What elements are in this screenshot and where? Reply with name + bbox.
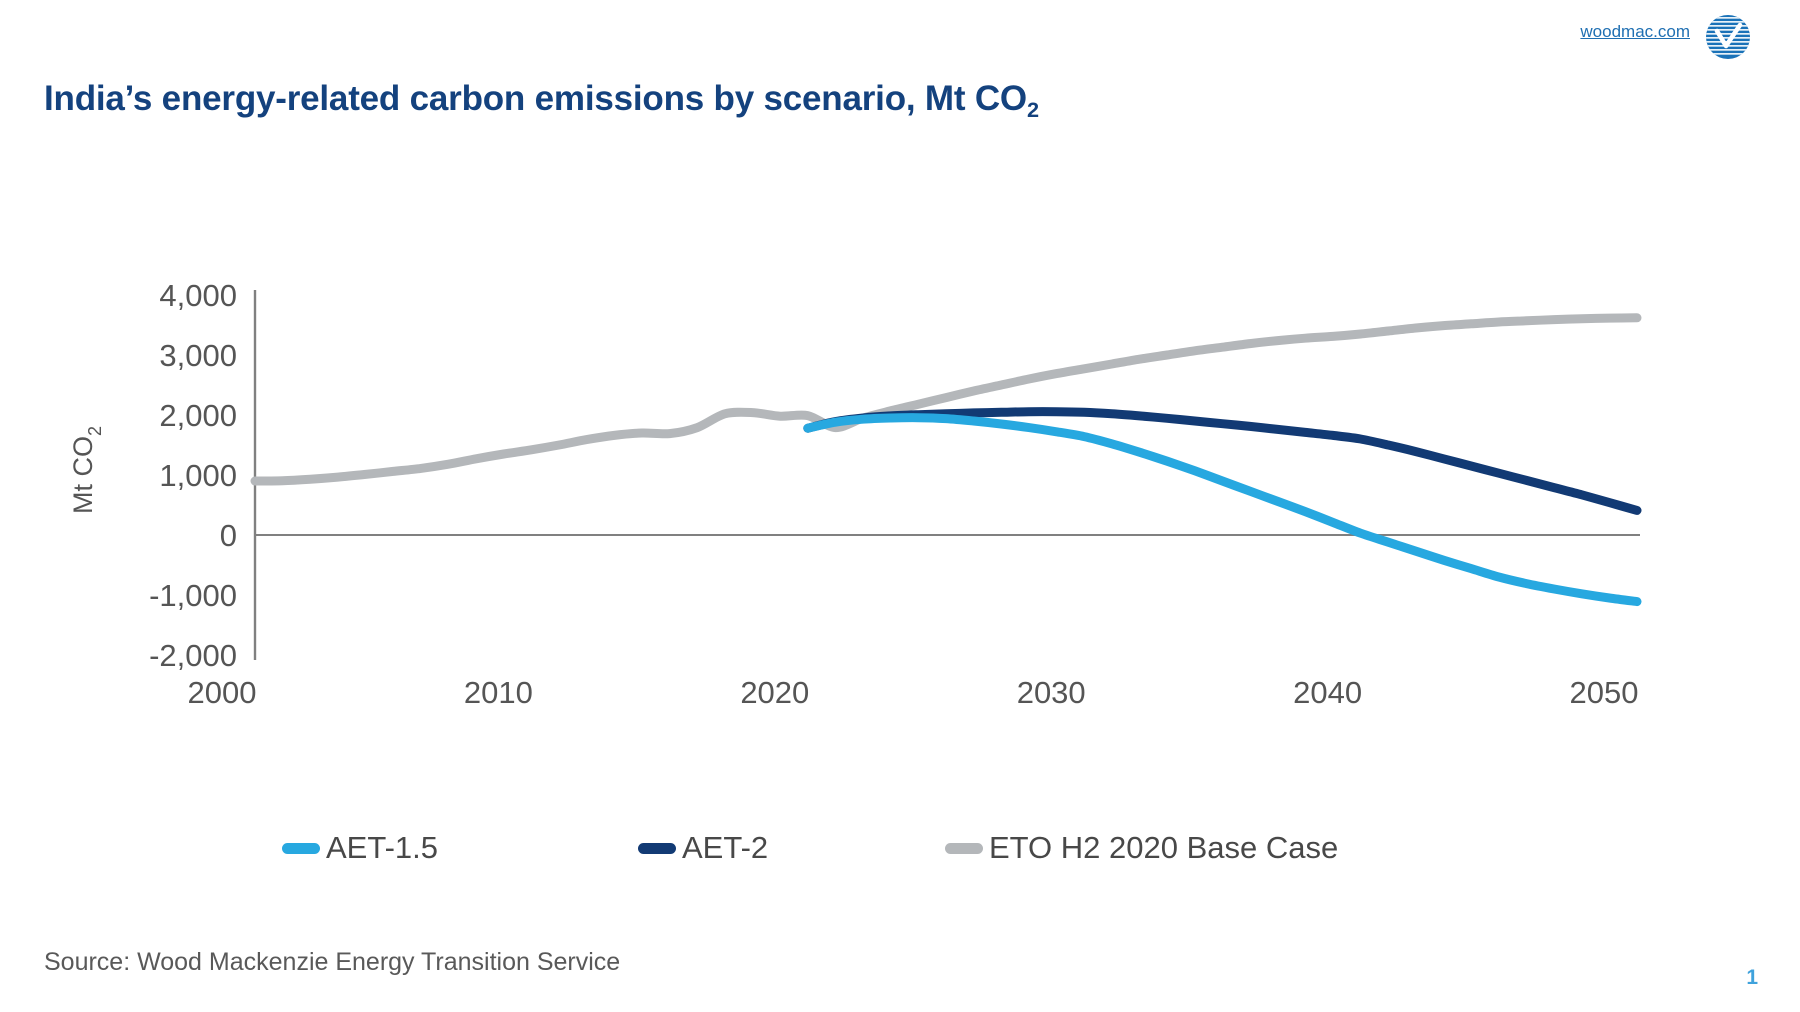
series-line-aet-1-5 bbox=[808, 418, 1637, 602]
y-axis-tick: -2,000 bbox=[149, 638, 237, 673]
page-title-text: India’s energy-related carbon emissions … bbox=[44, 79, 1027, 118]
legend-item-aet-15[interactable]: AET-1.5 bbox=[282, 830, 438, 866]
y-axis-tick: -1,000 bbox=[149, 578, 237, 613]
y-axis-tick: 1,000 bbox=[159, 458, 237, 493]
series-line-aet-2 bbox=[808, 412, 1637, 511]
legend-label: AET-1.5 bbox=[326, 830, 438, 866]
y-axis-title: Mt CO2 bbox=[68, 426, 105, 514]
x-axis-tick: 2050 bbox=[1570, 675, 1639, 710]
chart-legend: AET-1.5 AET-2 ETO H2 2020 Base Case bbox=[255, 818, 1455, 878]
x-axis-tick: 2040 bbox=[1293, 675, 1362, 710]
header-bar: woodmac.com bbox=[0, 0, 1800, 120]
x-axis-tick: 2020 bbox=[740, 675, 809, 710]
y-axis-tick: 0 bbox=[220, 518, 237, 553]
legend-swatch-icon bbox=[945, 843, 983, 854]
svg-text:Mt CO2: Mt CO2 bbox=[68, 426, 105, 514]
x-axis-tick: 2000 bbox=[188, 675, 257, 710]
woodmac-site-link[interactable]: woodmac.com bbox=[1580, 22, 1690, 42]
page-number: 1 bbox=[1746, 966, 1758, 990]
page-title-subscript: 2 bbox=[1027, 97, 1039, 122]
x-axis-tick-labels: 200020102020203020402050 bbox=[188, 675, 1639, 710]
legend-swatch-icon bbox=[638, 843, 676, 854]
woodmac-logo-icon bbox=[1704, 13, 1752, 61]
y-axis-tick-labels: 4,0003,0002,0001,0000-1,000-2,000 bbox=[149, 278, 237, 673]
legend-label: ETO H2 2020 Base Case bbox=[989, 830, 1338, 866]
series-paths bbox=[255, 318, 1637, 602]
source-note: Source: Wood Mackenzie Energy Transition… bbox=[44, 948, 620, 977]
legend-item-eto-h2-2020-base-case[interactable]: ETO H2 2020 Base Case bbox=[945, 830, 1338, 866]
y-axis-tick: 2,000 bbox=[159, 398, 237, 433]
legend-label: AET-2 bbox=[682, 830, 768, 866]
legend-item-aet-2[interactable]: AET-2 bbox=[638, 830, 768, 866]
y-axis-tick: 3,000 bbox=[159, 338, 237, 373]
x-axis-tick: 2030 bbox=[1017, 675, 1086, 710]
page-title: India’s energy-related carbon emissions … bbox=[44, 79, 1039, 119]
legend-swatch-icon bbox=[282, 843, 320, 854]
series-line-eto-h2-2020-base-case bbox=[255, 318, 1637, 481]
y-axis-tick: 4,000 bbox=[159, 278, 237, 313]
x-axis-tick: 2010 bbox=[464, 675, 533, 710]
